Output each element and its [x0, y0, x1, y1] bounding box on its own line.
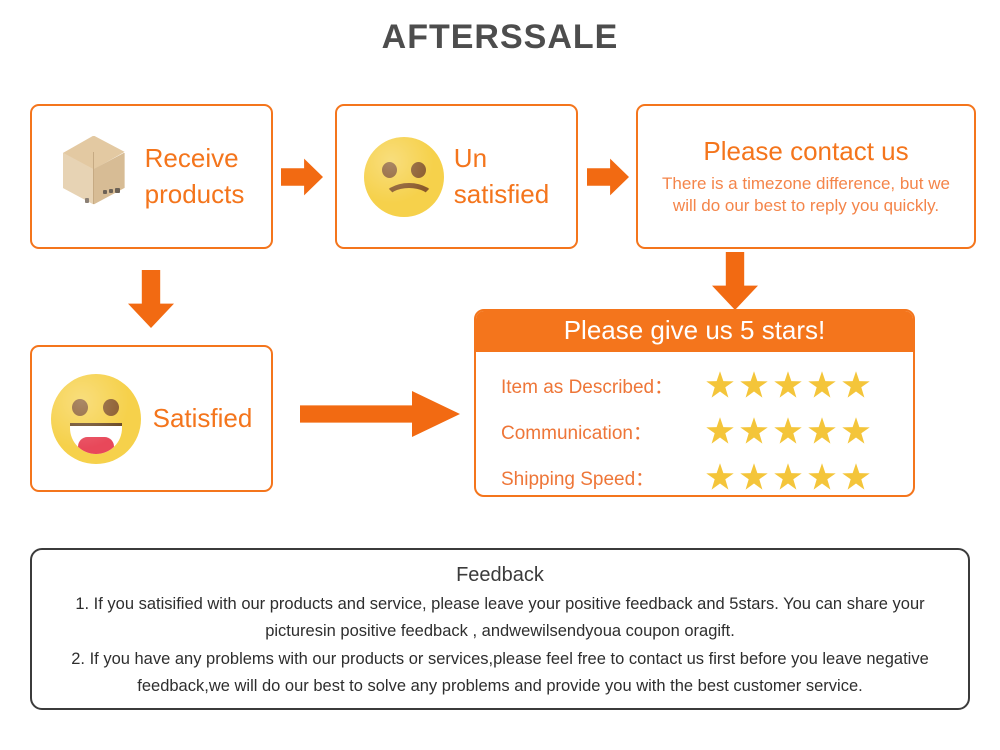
rating-row-item-as-described: Item as Described： — [476, 362, 913, 408]
page-title: AFTERSSALE — [0, 18, 1000, 57]
rating-panel-header: Please give us 5 stars! — [476, 311, 913, 352]
unsatisfied-label-line2: satisfied — [454, 179, 549, 209]
cardboard-box-icon — [59, 134, 137, 220]
star-icon[interactable] — [706, 463, 734, 491]
sad-face-icon — [364, 137, 444, 217]
receive-label-line1: Receive — [145, 143, 239, 173]
star-icon[interactable] — [774, 417, 802, 445]
step-card-satisfied-label: Satisfied — [153, 403, 253, 434]
rating-panel: Please give us 5 stars! Item as Describe… — [474, 309, 915, 497]
feedback-line-4: feedback,we will do our best to solve an… — [54, 675, 946, 698]
happy-face-icon — [51, 374, 141, 464]
step-card-unsatisfied-label: Un satisfied — [454, 141, 549, 213]
arrow-right-long-icon-satisfied-to-rating — [300, 390, 460, 438]
star-icon[interactable] — [706, 371, 734, 399]
contact-heading: Please contact us — [703, 136, 908, 167]
arrow-right-icon-receive-to-unsatisfied — [281, 157, 323, 197]
rating-row-communication: Communication： — [476, 408, 913, 454]
feedback-title: Feedback — [54, 564, 946, 587]
step-card-receive-products: Receive products — [30, 104, 273, 249]
star-icon[interactable] — [808, 417, 836, 445]
rating-label: Communication： — [501, 418, 706, 445]
step-card-satisfied: Satisfied — [30, 345, 273, 492]
star-rating-communication[interactable] — [706, 417, 870, 445]
rating-label: Item as Described： — [501, 372, 706, 399]
arrow-right-icon-unsatisfied-to-contact — [587, 157, 629, 197]
star-icon[interactable] — [740, 371, 768, 399]
feedback-line-3: 2. If you have any problems with our pro… — [54, 648, 946, 671]
star-icon[interactable] — [774, 463, 802, 491]
star-icon[interactable] — [808, 463, 836, 491]
star-icon[interactable] — [706, 417, 734, 445]
star-icon[interactable] — [842, 463, 870, 491]
rating-row-shipping-speed: Shipping Speed： — [476, 454, 913, 497]
feedback-line-2: picturesin positive feedback , andwewils… — [54, 620, 946, 643]
star-icon[interactable] — [774, 371, 802, 399]
step-card-contact-us: Please contact us There is a timezone di… — [636, 104, 976, 249]
rating-rows: Item as Described： Communication： Shippi… — [476, 352, 913, 497]
feedback-line-1: 1. If you satisified with our products a… — [54, 593, 946, 616]
star-rating-shipping-speed[interactable] — [706, 463, 870, 491]
star-icon[interactable] — [842, 417, 870, 445]
step-card-unsatisfied: Un satisfied — [335, 104, 578, 249]
star-icon[interactable] — [808, 371, 836, 399]
step-card-receive-label: Receive products — [145, 141, 245, 213]
receive-label-line2: products — [145, 179, 245, 209]
feedback-panel: Feedback 1. If you satisified with our p… — [30, 548, 970, 710]
star-rating-item-as-described[interactable] — [706, 371, 870, 399]
arrow-down-icon-contact-to-rating — [712, 252, 758, 310]
contact-body-text: There is a timezone difference, but we w… — [648, 173, 964, 218]
star-icon[interactable] — [842, 371, 870, 399]
star-icon[interactable] — [740, 463, 768, 491]
rating-label: Shipping Speed： — [501, 464, 706, 491]
unsatisfied-label-line1: Un — [454, 143, 487, 173]
arrow-down-icon-receive-to-satisfied — [128, 270, 174, 328]
star-icon[interactable] — [740, 417, 768, 445]
